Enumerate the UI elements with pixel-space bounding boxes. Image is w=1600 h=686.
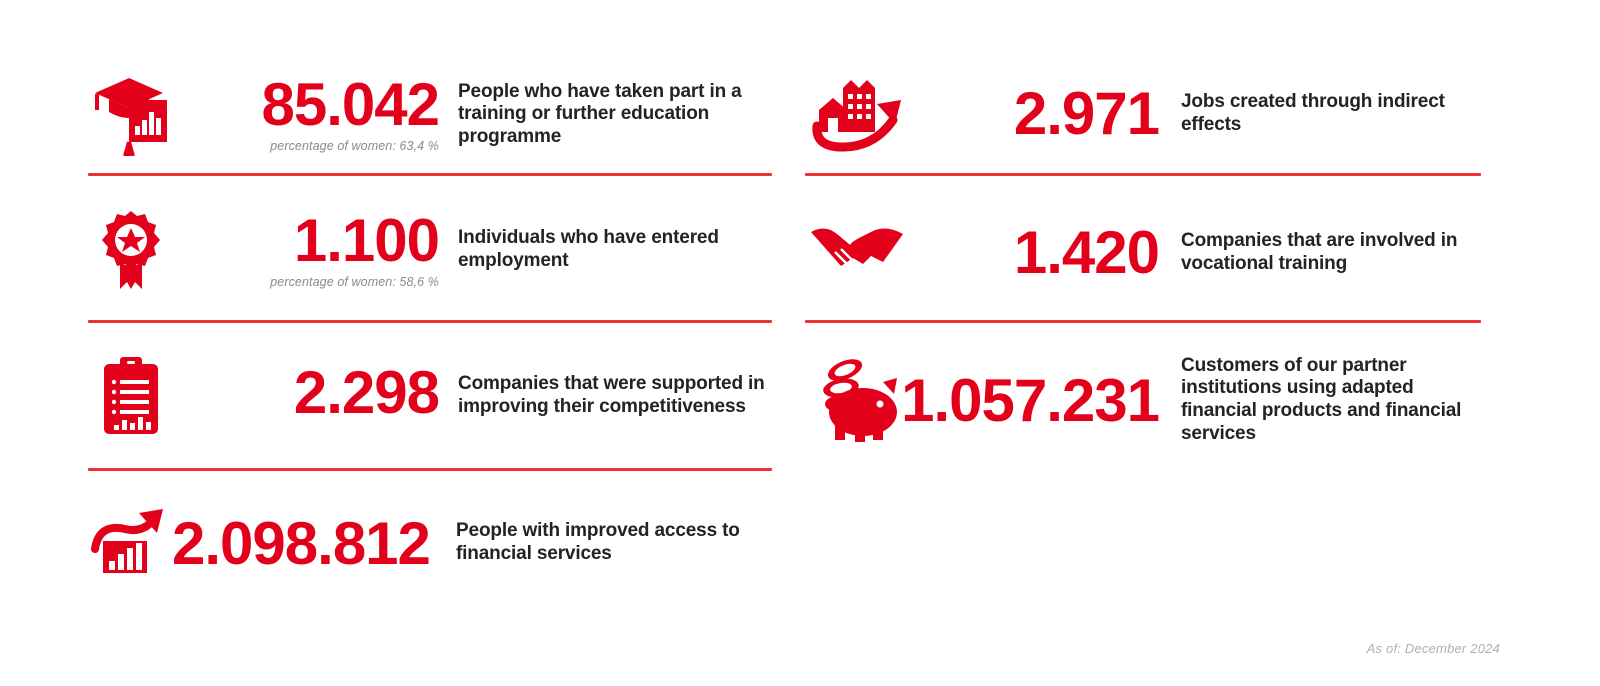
stat-subnote: percentage of women: 58,6 % [270, 275, 439, 289]
stat-row: 1.057.231 Customers of our partner insti… [805, 345, 1481, 455]
stat-figure: 85.042 percentage of women: 63,4 % [174, 76, 439, 153]
stat-label: Companies that are involved in vocationa… [1181, 230, 1481, 275]
stat-label: Jobs created through indirect effects [1181, 91, 1481, 136]
stat-figure: 1.100 percentage of women: 58,6 % [174, 212, 439, 289]
row-divider [88, 320, 772, 323]
as-of-date-note: As of: December 2024 [1367, 641, 1500, 656]
row-divider [805, 320, 1481, 323]
stat-figure: 2.098.812 [172, 515, 437, 572]
stat-figure: 2.298 [174, 364, 439, 427]
stat-row: 1.100 percentage of women: 58,6 % Indivi… [88, 200, 772, 300]
stat-label: Customers of our partner institutions us… [1181, 355, 1481, 445]
stat-row: 2.298 Companies that were supported in i… [88, 348, 772, 443]
stat-number: 1.057.231 [901, 372, 1159, 429]
stat-number: 85.042 [261, 76, 439, 133]
stat-row: 1.420 Companies that are involved in voc… [805, 205, 1481, 300]
stat-row: 2.098.812 People with improved access to… [88, 500, 772, 586]
piggy-bank-coins-icon [805, 354, 909, 446]
stat-label: People with improved access to financial… [456, 520, 772, 565]
stat-figure: 1.420 [909, 224, 1159, 281]
stat-subnote: percentage of women: 63,4 % [270, 139, 439, 153]
stat-figure: 1.057.231 [909, 372, 1159, 429]
stat-number: 1.100 [294, 212, 439, 269]
clipboard-chart-icon [88, 356, 174, 436]
stat-row: 2.971 Jobs created through indirect effe… [805, 66, 1481, 161]
stat-number: 2.298 [294, 364, 439, 421]
row-divider [88, 468, 772, 471]
stat-number: 2.098.812 [172, 515, 430, 572]
stat-number: 2.971 [1014, 85, 1159, 142]
graduation-cap-chart-icon [88, 74, 174, 156]
row-divider [805, 173, 1481, 176]
stat-label: Companies that were supported in improvi… [458, 373, 772, 418]
stat-figure: 2.971 [909, 85, 1159, 142]
impact-figures-board: 85.042 percentage of women: 63,4 % Peopl… [0, 0, 1600, 686]
handshake-icon [805, 222, 909, 284]
stat-row: 85.042 percentage of women: 63,4 % Peopl… [88, 62, 772, 167]
award-ribbon-icon [88, 209, 174, 291]
city-growth-arrow-icon [805, 74, 909, 154]
stat-label: People who have taken part in a training… [458, 81, 772, 149]
row-divider [88, 173, 772, 176]
growth-chart-arrow-icon [88, 507, 172, 579]
stat-label: Individuals who have entered employment [458, 227, 772, 272]
stat-number: 1.420 [1014, 224, 1159, 281]
